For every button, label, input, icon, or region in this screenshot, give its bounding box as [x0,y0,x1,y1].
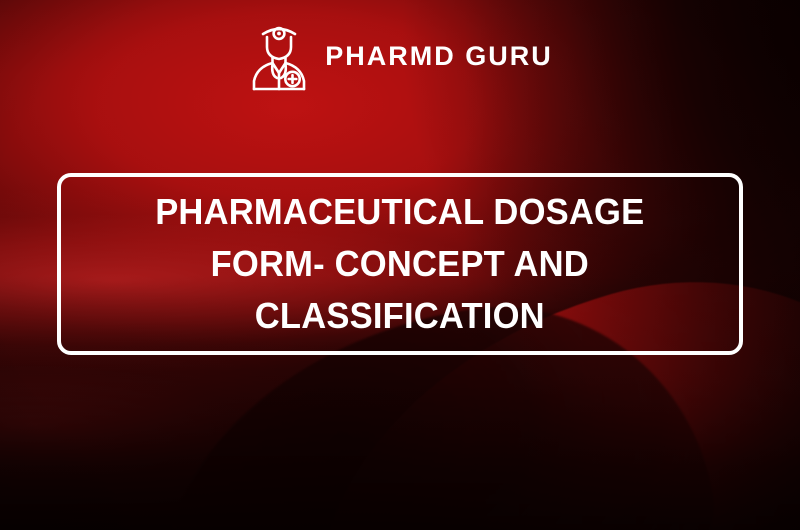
title-frame: PHARMACEUTICAL DOSAGE FORM- CONCEPT AND … [57,173,743,355]
title-line-1: PHARMACEUTICAL DOSAGE [155,186,644,238]
page-title: PHARMACEUTICAL DOSAGE FORM- CONCEPT AND … [142,186,658,341]
doctor-head-mirror-icon [247,21,311,91]
promo-banner: PHARMD GURU PHARMACEUTICAL DOSAGE FORM- … [0,0,800,530]
brand-logo: PHARMD GURU [0,16,800,96]
title-line-3: CLASSIFICATION [155,290,644,342]
title-line-2: FORM- CONCEPT AND [155,238,644,290]
brand-name: PHARMD GURU [325,43,553,70]
